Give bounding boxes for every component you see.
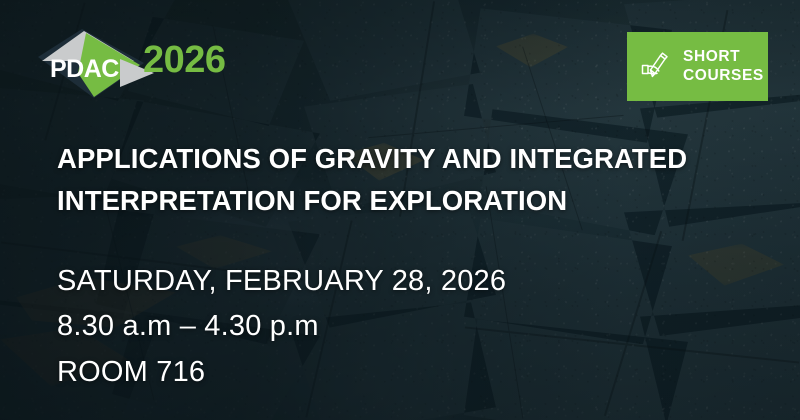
event-date: SATURDAY, FEBRUARY 28, 2026 xyxy=(57,259,747,305)
banner-content: APPLICATIONS OF GRAVITY AND INTEGRATED I… xyxy=(57,138,747,396)
pdac-wordmark-text: PDAC xyxy=(50,55,119,83)
event-time: 8.30 a.m – 4.30 p.m xyxy=(57,304,747,350)
badge-line-2: COURSES xyxy=(683,67,764,84)
badge-line-1: SHORT xyxy=(683,48,740,65)
pdac-logo-year: 2026 xyxy=(143,41,226,79)
pdac-logo[interactable]: PDAC xyxy=(36,27,158,100)
hand-holding-pen-icon xyxy=(640,50,674,84)
event-details: SATURDAY, FEBRUARY 28, 2026 8.30 a.m – 4… xyxy=(57,259,747,396)
event-room: ROOM 716 xyxy=(57,350,747,396)
short-courses-badge-label: SHORT COURSES xyxy=(683,48,764,86)
short-courses-badge[interactable]: SHORT COURSES xyxy=(627,32,768,101)
event-title: APPLICATIONS OF GRAVITY AND INTEGRATED I… xyxy=(57,138,727,222)
event-banner: PDAC 2026 SHORT COURSES APPLICATIONS OF … xyxy=(0,0,800,420)
